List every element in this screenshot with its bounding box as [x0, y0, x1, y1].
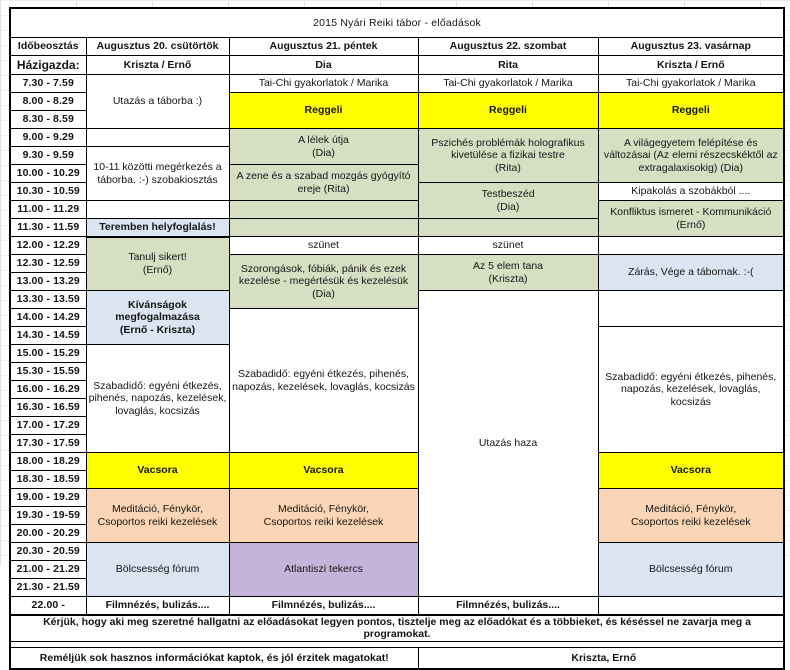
cell-fri-soul-path: A lélek útja(Dia) — [229, 129, 418, 165]
time-slot: 16.00 - 16.29 — [10, 381, 86, 399]
cell-sat-body-cont — [418, 219, 598, 237]
cell-thu-freetime: Szabadidő: egyéni étkezés, pihenés, napo… — [86, 345, 229, 453]
cell-thu-room-seating: Teremben helyfoglalás! — [86, 219, 229, 237]
cell-fri-movie: Filmnézés, bulizás.... — [229, 597, 418, 616]
host-sunday: Kriszta / Ernő — [598, 56, 784, 75]
time-slot: 13.30 - 13.59 — [10, 291, 86, 309]
time-slot: 17.30 - 17.59 — [10, 435, 86, 453]
time-slot: 10.30 - 10.59 — [10, 183, 86, 201]
time-slot: 8.30 - 8.59 — [10, 111, 86, 129]
schedule-row: 20.30 - 20.59 Bölcsesség fórum Atlantisz… — [10, 543, 784, 561]
cell-sat-body-language: Testbeszéd(Dia) — [418, 183, 598, 219]
cell-thu-meditation: Meditáció, Fénykör,Csoportos reiki kezel… — [86, 489, 229, 543]
time-slot: 22.00 - — [10, 597, 86, 616]
cell-sat-meditation: Meditáció, Fénykör,Csoportos reiki kezel… — [598, 489, 784, 543]
title-row: 2015 Nyári Reiki tábor - előadások — [10, 8, 784, 38]
cell-sat-five-elements: Az 5 elem tana(Kriszta) — [418, 255, 598, 291]
time-slot: 9.30 - 9.59 — [10, 147, 86, 165]
cell-thu-wishes: Kívánságok megfogalmazása(Ernő - Kriszta… — [86, 291, 229, 345]
cell-fri-dinner: Vacsora — [229, 453, 418, 489]
footer-signature: Kriszta, Ernő — [418, 647, 784, 669]
cell-sun-taichi: Tai-Chi gyakorlatok / Marika — [598, 75, 784, 93]
cell-fri-break: szünet — [229, 237, 418, 255]
cell-thu-learn-success: Tanulj sikert!(Ernő) — [86, 237, 229, 291]
schedule-row: 9.00 - 9.29 A lélek útja(Dia) Pszichés p… — [10, 129, 784, 147]
schedule-row: 22.00 - Filmnézés, bulizás.... Filmnézés… — [10, 597, 784, 616]
footer-notice: Kérjük, hogy aki meg szeretné hallgatni … — [10, 615, 784, 641]
cell-fri-breakfast: Reggeli — [229, 93, 418, 129]
day-header-saturday: Augusztus 22. szombat — [418, 38, 598, 56]
day-header-friday: Augusztus 21. péntek — [229, 38, 418, 56]
schedule-row: 18.00 - 18.29 Vacsora Vacsora Vacsora — [10, 453, 784, 471]
schedule-row: 19.00 - 19.29 Meditáció, Fénykör,Csoport… — [10, 489, 784, 507]
cell-sun-empty-last — [598, 597, 784, 616]
cell-fri-meditation: Meditáció, Fénykör,Csoportos reiki kezel… — [229, 489, 418, 543]
time-slot: 12.30 - 12.59 — [10, 255, 86, 273]
cell-thu-empty-1 — [86, 129, 229, 147]
cell-sat-wisdom-forum: Bölcsesség fórum — [598, 543, 784, 597]
time-slot: 8.00 - 8.29 — [10, 93, 86, 111]
cell-sat-break: szünet — [418, 237, 598, 255]
time-slot: 7.30 - 7.59 — [10, 75, 86, 93]
cell-sun-travel-home: Utazás haza — [418, 291, 598, 597]
schedule-table: 2015 Nyári Reiki tábor - előadások Időbe… — [9, 7, 785, 670]
time-slot: 10.00 - 10.29 — [10, 165, 86, 183]
cell-sat-taichi: Tai-Chi gyakorlatok / Marika — [418, 75, 598, 93]
time-slot: 14.30 - 14.59 — [10, 327, 86, 345]
schedule-row: 11.00 - 11.29 Konfliktus ismeret - Kommu… — [10, 201, 784, 219]
cell-fri-freetime: Szabadidő: egyéni étkezés, pihenés, napo… — [598, 327, 784, 453]
host-saturday: Rita — [418, 56, 598, 75]
time-slot: 21.30 - 21.59 — [10, 579, 86, 597]
time-slot: 18.30 - 18.59 — [10, 471, 86, 489]
host-header-row: Házigazda: Kriszta / Ernő Dia Rita Krisz… — [10, 56, 784, 75]
time-column-header: Időbeosztás — [10, 38, 86, 56]
cell-thu-arrival: 10-11 közötti megérkezés a táborba. :-) … — [86, 147, 229, 201]
time-slot: 17.00 - 17.29 — [10, 417, 86, 435]
footer-closing-row: Reméljük sok hasznos információkat kapto… — [10, 647, 784, 669]
time-slot: 13.00 - 13.29 — [10, 273, 86, 291]
cell-fri-music-cont — [229, 201, 418, 219]
cell-sun-closing: Zárás, Vége a tábornak. :-( — [598, 255, 784, 291]
cell-thu-dinner: Vacsora — [86, 453, 229, 489]
cell-sun-universe: A világegyetem felépítése és változásai … — [598, 129, 784, 183]
cell-sat-psychic: Pszichés problémák holografikus kivetülé… — [418, 129, 598, 183]
schedule-row: 12.00 - 12.29 Tanulj sikert!(Ernő) szüne… — [10, 237, 784, 255]
time-slot: 15.30 - 15.59 — [10, 363, 86, 381]
cell-thu-travel: Utazás a táborba :) — [86, 75, 229, 129]
cell-sat-dinner: Vacsora — [598, 453, 784, 489]
time-slot: 18.00 - 18.29 — [10, 453, 86, 471]
cell-fri-music-cont2 — [229, 219, 418, 237]
time-slot: 20.30 - 20.59 — [10, 543, 86, 561]
time-slot: 19.00 - 19.29 — [10, 489, 86, 507]
time-slot: 11.30 - 11.59 — [10, 219, 86, 237]
day-header-thursday: Augusztus 20. csütörtök — [86, 38, 229, 56]
cell-sun-conflict: Konfliktus ismeret - Kommunikáció(Ernő) — [598, 201, 784, 237]
page-title: 2015 Nyári Reiki tábor - előadások — [10, 8, 784, 38]
date-header-row: Időbeosztás Augusztus 20. csütörtök Augu… — [10, 38, 784, 56]
cell-thu-wisdom-forum: Bölcsesség fórum — [86, 543, 229, 597]
time-slot: 16.30 - 16.59 — [10, 399, 86, 417]
cell-sat-breakfast: Reggeli — [418, 93, 598, 129]
time-slot: 12.00 - 12.29 — [10, 237, 86, 255]
cell-sun-packing: Kipakolás a szobákból .... — [598, 183, 784, 201]
time-slot: 14.00 - 14.29 — [10, 309, 86, 327]
cell-thu-movie: Filmnézés, bulizás.... — [86, 597, 229, 616]
time-slot: 11.00 - 11.29 — [10, 201, 86, 219]
schedule-document: 2015 Nyári Reiki tábor - előadások Időbe… — [9, 7, 783, 670]
day-header-sunday: Augusztus 23. vasárnap — [598, 38, 784, 56]
time-slot: 19.30 - 19-59 — [10, 507, 86, 525]
cell-fri-anxiety: Szorongások, fóbiák, pánik és ezek kezel… — [229, 255, 418, 309]
host-thursday: Kriszta / Ernő — [86, 56, 229, 75]
schedule-row: 7.30 - 7.59 Utazás a táborba :) Tai-Chi … — [10, 75, 784, 93]
cell-thu-empty-2 — [86, 201, 229, 219]
time-slot: 15.00 - 15.29 — [10, 345, 86, 363]
cell-sun-breakfast: Reggeli — [598, 93, 784, 129]
cell-fri-atlantis: Atlantiszi tekercs — [229, 543, 418, 597]
time-slot: 21.00 - 21.29 — [10, 561, 86, 579]
cell-sat-movie: Filmnézés, bulizás.... — [418, 597, 598, 616]
cell-sat-freetime: Szabadidő: egyéni étkezés, pihenés, napo… — [229, 309, 418, 453]
host-friday: Dia — [229, 56, 418, 75]
time-slot: 20.00 - 20.29 — [10, 525, 86, 543]
footer-closing-message: Reméljük sok hasznos információkat kapto… — [10, 647, 418, 669]
footer-notice-row: Kérjük, hogy aki meg szeretné hallgatni … — [10, 615, 784, 641]
host-row-label: Házigazda: — [10, 56, 86, 75]
cell-fri-taichi: Tai-Chi gyakorlatok / Marika — [229, 75, 418, 93]
time-slot: 9.00 - 9.29 — [10, 129, 86, 147]
cell-fri-music-movement: A zene és a szabad mozgás gyógyító ereje… — [229, 165, 418, 201]
